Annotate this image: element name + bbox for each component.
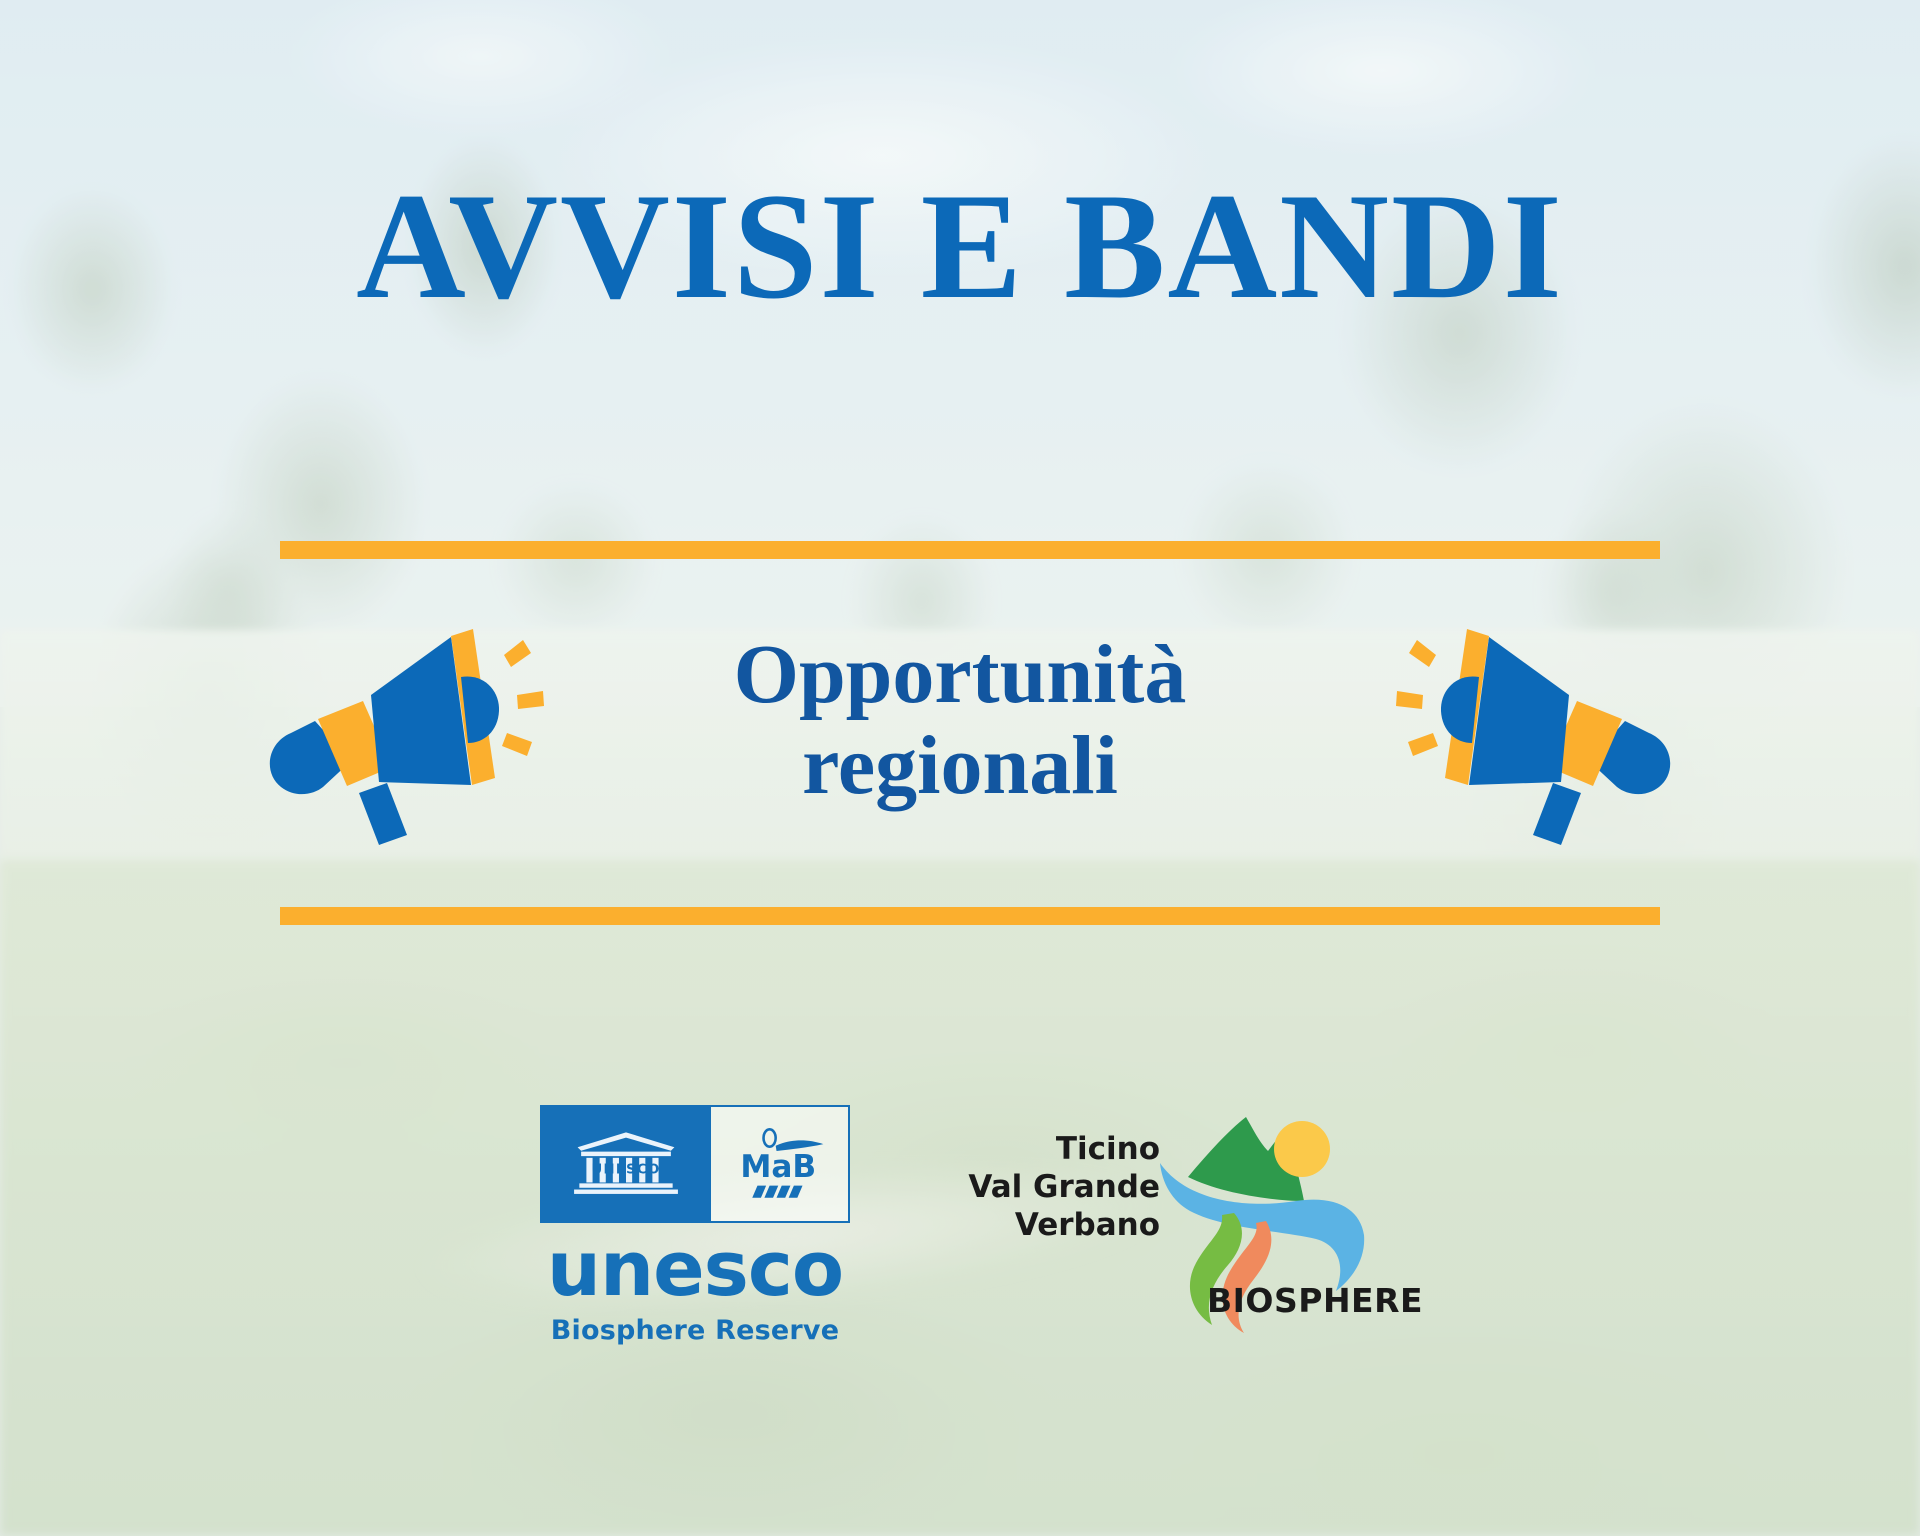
poster-canvas: AVVISI E BANDI: [0, 0, 1920, 1536]
ticino-val-grande-verbano-logo: Ticino Val Grande Verbano: [960, 1105, 1390, 1335]
subtitle-line-1: Opportunità: [734, 628, 1187, 721]
unesco-temple-icon: UNESCO: [542, 1107, 709, 1221]
unesco-logo: UNESCO MaB: [530, 1105, 860, 1346]
divider-rule-top: [280, 541, 1660, 559]
ticino-logo-line-3: Verbano: [960, 1207, 1160, 1245]
divider-rule-bottom: [280, 907, 1660, 925]
biosphere-label: BIOSPHERE: [1207, 1281, 1423, 1320]
subtitle: Opportunità regionali: [560, 630, 1360, 811]
unesco-wordmark: unesco: [547, 1235, 843, 1303]
ticino-logo-line-1: Ticino: [960, 1131, 1160, 1169]
subtitle-line-2: regionali: [560, 721, 1360, 812]
ticino-logo-line-2: Val Grande: [960, 1169, 1160, 1207]
megaphone-icon-left: [255, 615, 555, 845]
logo-row: UNESCO MaB: [0, 1105, 1920, 1346]
svg-text:MaB: MaB: [740, 1149, 816, 1185]
unesco-emblem: UNESCO MaB: [540, 1105, 850, 1223]
mab-icon: MaB: [709, 1107, 848, 1221]
svg-text:UNESCO: UNESCO: [591, 1163, 660, 1178]
unesco-tagline: Biosphere Reserve: [551, 1315, 839, 1346]
poster-content: AVVISI E BANDI: [0, 0, 1920, 1536]
page-title: AVVISI E BANDI: [0, 170, 1920, 322]
megaphone-icon-right: [1385, 615, 1685, 845]
ticino-logo-words: Ticino Val Grande Verbano: [960, 1131, 1160, 1244]
